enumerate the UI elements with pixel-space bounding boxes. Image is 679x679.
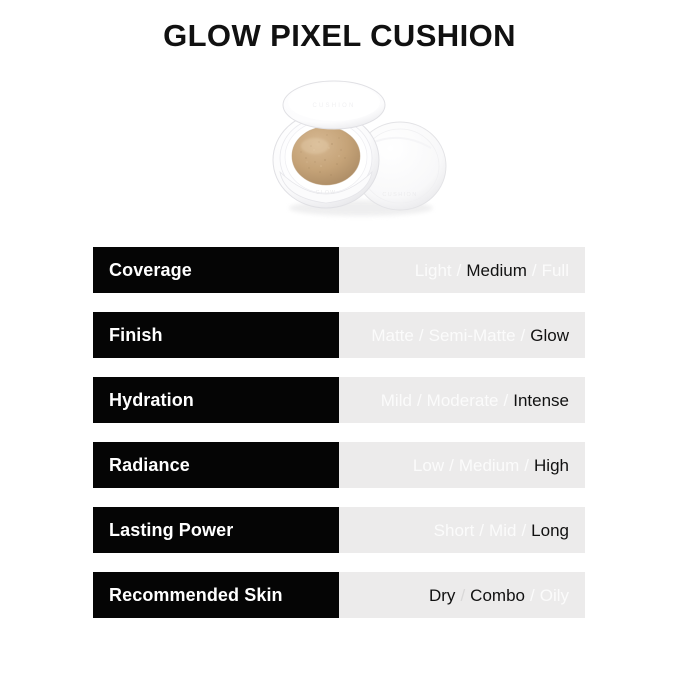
product-spec-page: GLOW PIXEL CUSHION <box>0 0 679 679</box>
option-unselected[interactable]: Medium <box>459 457 519 474</box>
option-selected[interactable]: Long <box>531 522 569 539</box>
option-separator: / <box>414 327 429 344</box>
spec-row-label: Radiance <box>93 442 339 488</box>
spec-row: HydrationMild/Moderate/Intense <box>93 377 585 423</box>
option-unselected[interactable]: Mid <box>489 522 516 539</box>
option-separator: / <box>444 457 459 474</box>
option-separator: / <box>412 392 427 409</box>
spec-row: RadianceLow/Medium/High <box>93 442 585 488</box>
spec-row-options: Low/Medium/High <box>339 442 585 488</box>
option-separator: / <box>452 262 467 279</box>
option-separator: / <box>527 262 542 279</box>
option-separator: / <box>516 327 531 344</box>
spec-row-label: Coverage <box>93 247 339 293</box>
svg-text:CUSHION: CUSHION <box>312 103 355 109</box>
spec-row: Recommended SkinDry/Combo/Oily <box>93 572 585 618</box>
option-unselected[interactable]: Matte <box>371 327 414 344</box>
option-separator: / <box>455 587 470 604</box>
spec-row-label: Recommended Skin <box>93 572 339 618</box>
svg-text:GLOW: GLOW <box>316 190 336 196</box>
option-selected[interactable]: High <box>534 457 569 474</box>
spec-row-options: Short/Mid/Long <box>339 507 585 553</box>
compact-lid: CUSHION <box>283 81 385 129</box>
option-unselected[interactable]: Moderate <box>427 392 499 409</box>
option-selected[interactable]: Combo <box>470 587 525 604</box>
option-separator: / <box>499 392 514 409</box>
spec-row-label: Hydration <box>93 377 339 423</box>
spec-row-options: Dry/Combo/Oily <box>339 572 585 618</box>
spec-row-label: Lasting Power <box>93 507 339 553</box>
spec-table: CoverageLight/Medium/FullFinishMatte/Sem… <box>93 247 585 618</box>
spec-row-options: Matte/Semi-Matte/Glow <box>339 312 585 358</box>
svg-text:CUSHION: CUSHION <box>382 192 417 198</box>
spec-row-options: Light/Medium/Full <box>339 247 585 293</box>
option-separator: / <box>516 522 531 539</box>
option-selected[interactable]: Intense <box>513 392 569 409</box>
option-selected[interactable]: Medium <box>466 262 526 279</box>
spec-row: FinishMatte/Semi-Matte/Glow <box>93 312 585 358</box>
option-selected[interactable]: Glow <box>530 327 569 344</box>
option-unselected[interactable]: Mild <box>381 392 412 409</box>
cushion-compact-product-photo: CUSHION <box>249 72 469 224</box>
spec-row: Lasting PowerShort/Mid/Long <box>93 507 585 553</box>
option-separator: / <box>525 587 540 604</box>
spec-row-options: Mild/Moderate/Intense <box>339 377 585 423</box>
option-separator: / <box>474 522 489 539</box>
option-selected[interactable]: Dry <box>429 587 455 604</box>
option-unselected[interactable]: Light <box>415 262 452 279</box>
spec-row: CoverageLight/Medium/Full <box>93 247 585 293</box>
option-unselected[interactable]: Semi-Matte <box>429 327 516 344</box>
option-separator: / <box>519 457 534 474</box>
page-title: GLOW PIXEL CUSHION <box>0 18 679 54</box>
option-unselected[interactable]: Low <box>413 457 444 474</box>
option-unselected[interactable]: Short <box>434 522 475 539</box>
option-unselected[interactable]: Full <box>542 262 569 279</box>
option-unselected[interactable]: Oily <box>540 587 569 604</box>
spec-row-label: Finish <box>93 312 339 358</box>
